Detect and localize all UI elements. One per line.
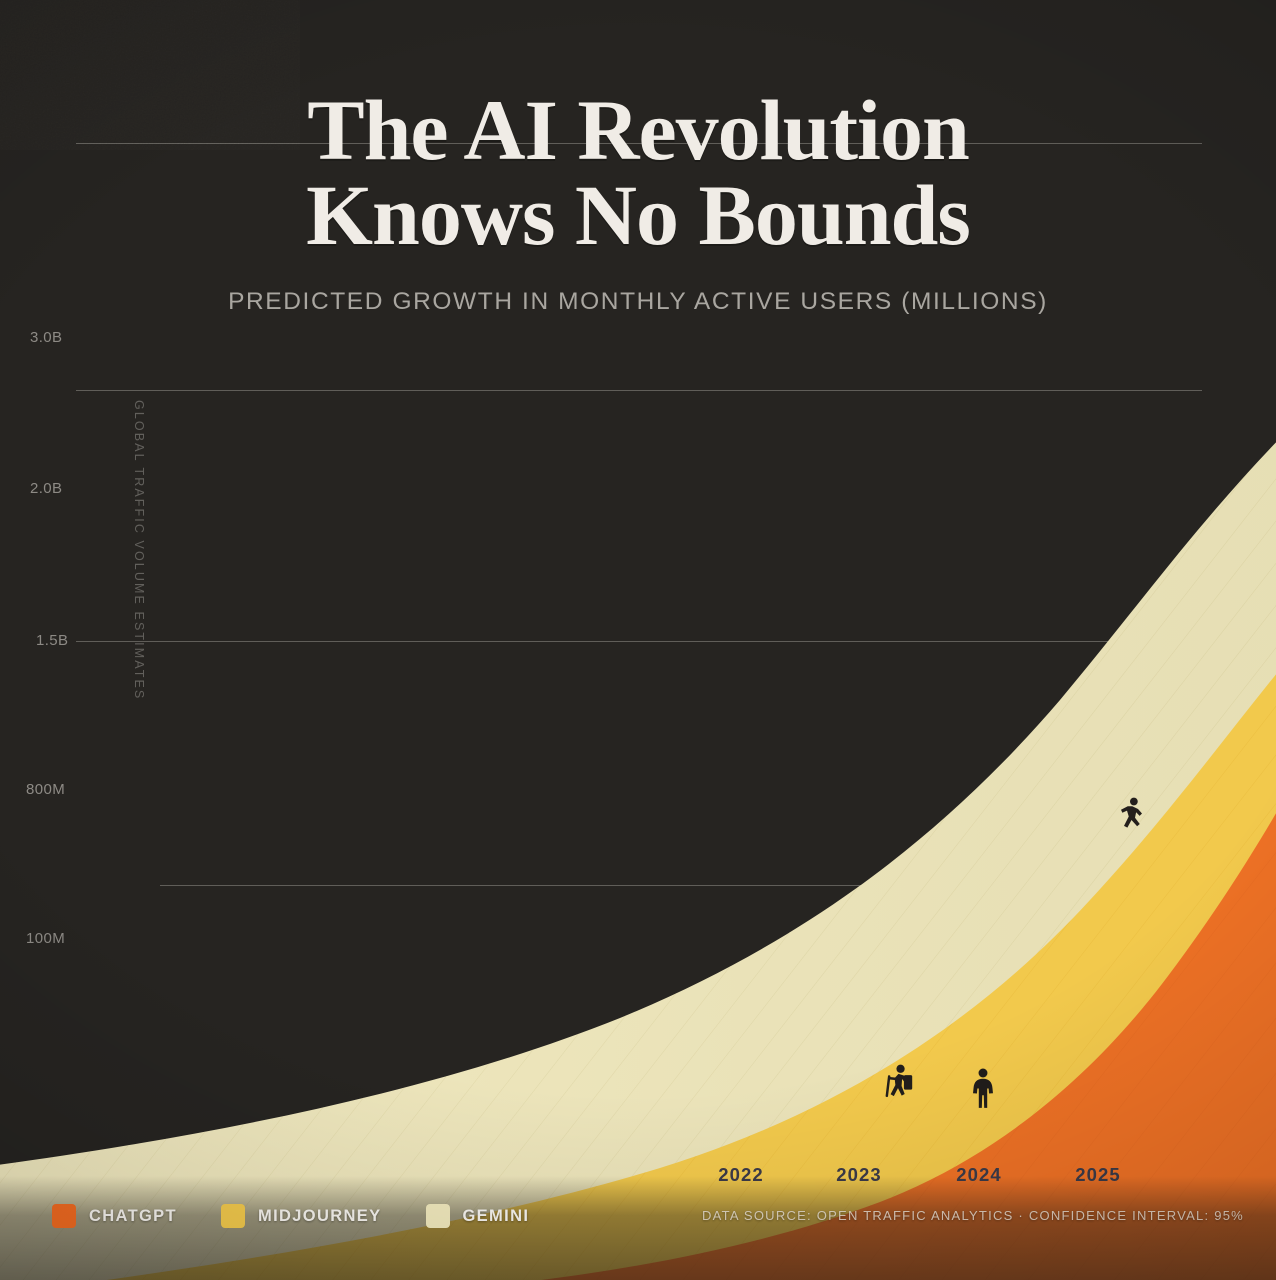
legend-item-chatgpt[interactable]: CHATGPT xyxy=(52,1204,177,1228)
legend-label-midjourney: MIDJOURNEY xyxy=(258,1207,382,1226)
legend-item-midjourney[interactable]: MIDJOURNEY xyxy=(221,1204,382,1228)
data-source-footnote: DATA SOURCE: OPEN TRAFFIC ANALYTICS · CO… xyxy=(702,1208,1244,1223)
stacked-area-chart xyxy=(0,0,1276,1280)
legend-swatch-midjourney xyxy=(221,1204,245,1228)
hiker-with-backpack-figure xyxy=(882,1064,916,1108)
x-axis-tick-2025: 2025 xyxy=(1075,1164,1121,1186)
legend-label-gemini: GEMINI xyxy=(463,1207,530,1226)
legend-swatch-chatgpt xyxy=(52,1204,76,1228)
infographic-canvas: 3.0B 2.0B 1.5B 800M 100M GLOBAL TRAFFIC … xyxy=(0,0,1276,1280)
walking-person-figure xyxy=(1117,797,1147,837)
legend-label-chatgpt: CHATGPT xyxy=(89,1207,177,1226)
chart-legend: CHATGPT MIDJOURNEY GEMINI xyxy=(52,1204,529,1228)
x-axis-tick-2022: 2022 xyxy=(718,1164,764,1186)
standing-person-figure xyxy=(968,1068,998,1110)
x-axis-tick-2024: 2024 xyxy=(956,1164,1002,1186)
legend-item-gemini[interactable]: GEMINI xyxy=(426,1204,530,1228)
x-axis-tick-2023: 2023 xyxy=(836,1164,882,1186)
legend-swatch-gemini xyxy=(426,1204,450,1228)
